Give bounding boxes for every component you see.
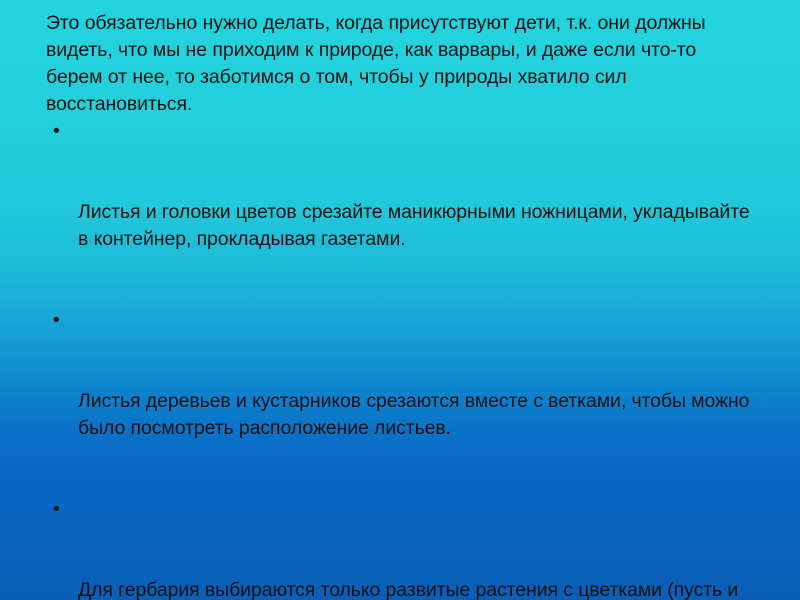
list-item: • Листья и головки цветов срезайте маник… bbox=[46, 118, 756, 307]
list-item-text: Для гербария выбираются только развитые … bbox=[78, 577, 756, 600]
bullet-point-icon: • bbox=[53, 496, 60, 523]
bullet-list: • Листья и головки цветов срезайте маник… bbox=[46, 118, 756, 600]
list-item: • Для гербария выбираются только развиты… bbox=[46, 496, 756, 600]
slide-content-body: Это обязательно нужно делать, когда прис… bbox=[46, 10, 756, 600]
list-item-text: Листья деревьев и кустарников срезаются … bbox=[78, 388, 756, 442]
intro-paragraph: Это обязательно нужно делать, когда прис… bbox=[46, 10, 756, 118]
list-item-text: Листья и головки цветов срезайте маникюр… bbox=[78, 199, 756, 253]
list-item: • Листья деревьев и кустарников срезаютс… bbox=[46, 307, 756, 496]
bullet-point-icon: • bbox=[53, 118, 60, 145]
presentation-slide: Это обязательно нужно делать, когда прис… bbox=[0, 0, 800, 600]
bullet-point-icon: • bbox=[53, 307, 60, 334]
